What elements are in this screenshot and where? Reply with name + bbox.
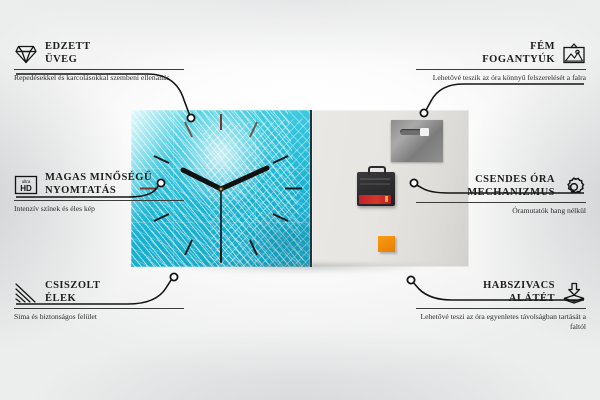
callout-header: ultra HD MAGAS MINŐSÉGŰ NYOMTATÁS	[14, 172, 184, 197]
callout-divider	[416, 308, 586, 309]
callout-divider	[416, 69, 586, 70]
callout-title: MAGAS MINŐSÉGŰ NYOMTATÁS	[45, 172, 152, 197]
callout-header: CSISZOLT ÉLEK	[14, 280, 184, 305]
callout-header: EDZETT ÜVEG	[14, 41, 184, 66]
mechanism-tab	[368, 166, 386, 175]
mechanism-detail	[360, 178, 390, 180]
callout-description: Lehetővé teszik az óra könnyű felszerelé…	[416, 73, 586, 83]
callout-divider	[14, 200, 184, 201]
polished-edges-icon	[14, 282, 38, 304]
callout-header: FÉM FOGANTYÚK	[416, 41, 586, 66]
leader-line-metal-handles	[425, 84, 584, 112]
callout-high-quality-print: ultra HD MAGAS MINŐSÉGŰ NYOMTATÁS Intenz…	[14, 172, 184, 214]
ultra-hd-icon: ultra HD	[14, 174, 38, 196]
callout-header: CSENDES ÓRA MECHANIZMUS	[416, 174, 586, 199]
foam-pad-part	[378, 236, 395, 252]
hanger-slot	[400, 129, 426, 135]
battery-part	[359, 195, 391, 204]
callout-description: Repedésekkel és karcolásokkal szembeni e…	[14, 73, 184, 83]
callout-title: EDZETT ÜVEG	[45, 41, 91, 66]
callout-title: CSENDES ÓRA MECHANIZMUS	[467, 174, 555, 199]
callout-title: FÉM FOGANTYÚK	[482, 41, 555, 66]
callout-description: Lehetővé teszi az óra egyenletes távolsá…	[416, 312, 586, 331]
callout-metal-handles: FÉM FOGANTYÚK Lehetővé teszik az óra kön…	[416, 41, 586, 83]
callout-description: Intenzív színek és éles kép	[14, 204, 184, 214]
metal-hanger-part	[391, 120, 443, 162]
callout-description: Óramutatók hang nélkül	[416, 206, 586, 216]
callout-divider	[416, 202, 586, 203]
wall-mount-frame-icon	[562, 43, 586, 65]
diamond-icon	[14, 43, 38, 65]
callout-divider	[14, 308, 184, 309]
gear-icon	[562, 176, 586, 198]
callout-header: HABSZIVACS ALÁTÉT	[416, 280, 586, 305]
infographic-canvas: EDZETT ÜVEG Repedésekkel és karcolásokka…	[0, 0, 600, 400]
callout-silent-mechanism: CSENDES ÓRA MECHANIZMUS Óramutatók hang …	[416, 174, 586, 216]
callout-title: CSISZOLT ÉLEK	[45, 280, 101, 305]
callout-title: HABSZIVACS ALÁTÉT	[483, 280, 555, 305]
clock-mechanism-part	[357, 172, 395, 206]
foam-pad-arrow-icon	[562, 282, 586, 304]
callout-polished-edges: CSISZOLT ÉLEK Sima és biztonságos felüle…	[14, 280, 184, 322]
callout-description: Sima és biztonságos felület	[14, 312, 184, 322]
callout-foam-backing: HABSZIVACS ALÁTÉT Lehetővé teszi az óra …	[416, 280, 586, 331]
callout-divider	[14, 69, 184, 70]
svg-text:HD: HD	[20, 184, 32, 193]
callout-tempered-glass: EDZETT ÜVEG Repedésekkel és karcolásokka…	[14, 41, 184, 83]
